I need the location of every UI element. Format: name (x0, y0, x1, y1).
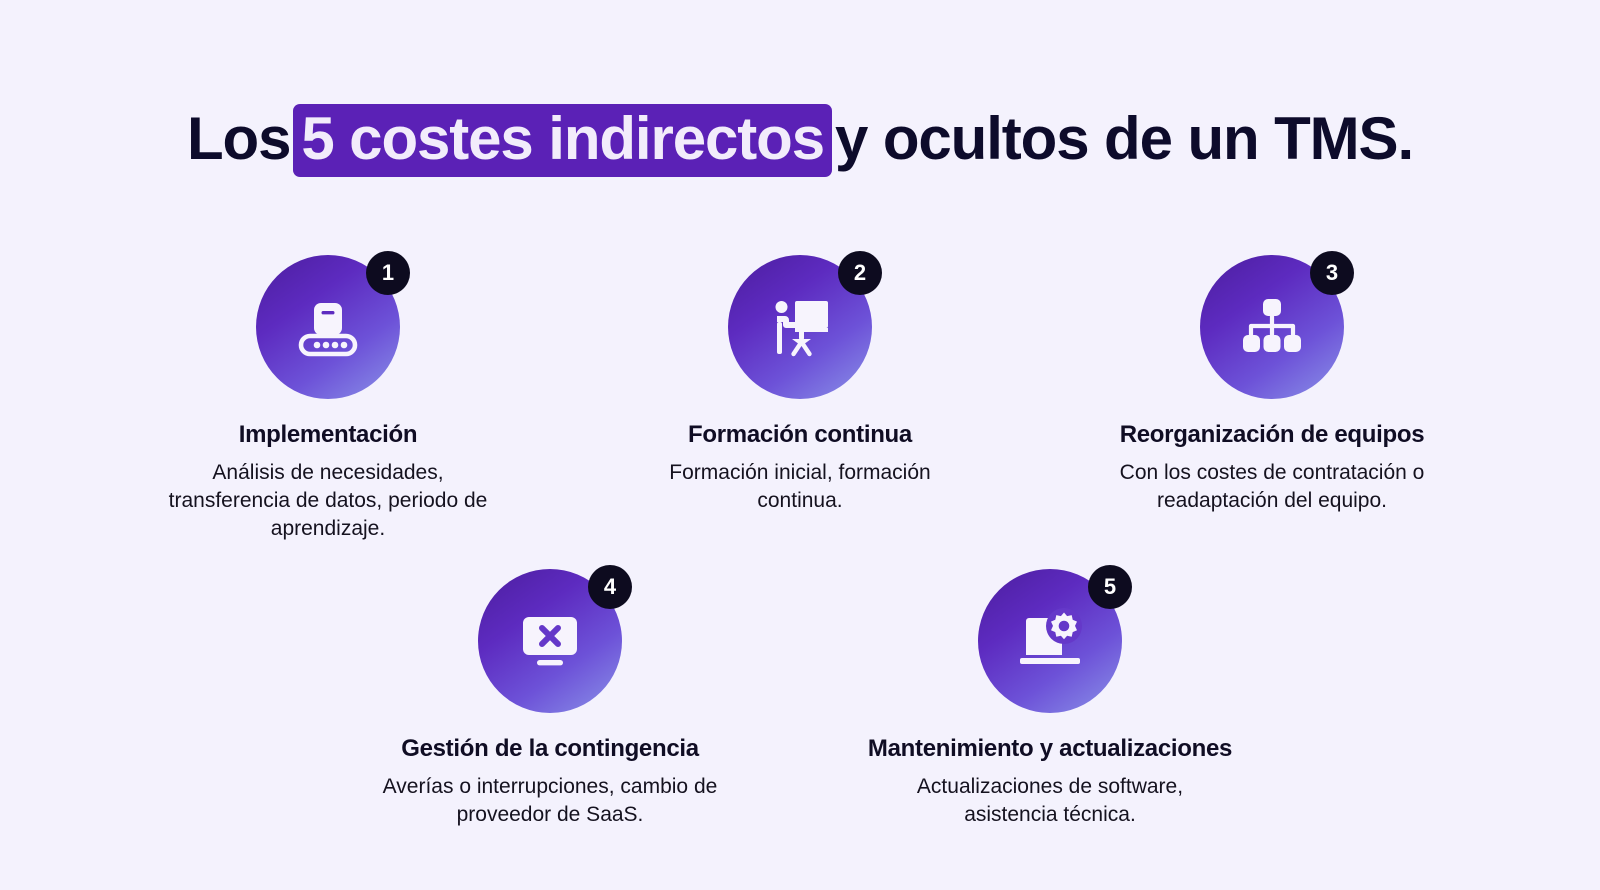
icon-bubble-2: 2 (728, 255, 872, 399)
card-description-5: Actualizaciones de software, asistencia … (870, 773, 1230, 829)
training-presentation-icon (765, 292, 835, 362)
org-chart-icon (1238, 293, 1306, 361)
card-description-3: Con los costes de contratación o readapt… (1102, 459, 1442, 515)
card-description-2: Formación inicial, formación continua. (630, 459, 970, 515)
icon-bubble-4: 4 (478, 569, 622, 713)
card-title-4: Gestión de la contingencia (401, 735, 699, 764)
card-title-5: Mantenimiento y actualizaciones (868, 735, 1232, 764)
card-number-badge-5: 5 (1088, 565, 1132, 609)
cost-card-2: 2 Formación continua Formación inicial, … (624, 255, 976, 515)
cards-row-bottom: 4 Gestión de la contingencia Averías o i… (0, 569, 1600, 829)
monitor-error-icon (515, 606, 585, 676)
card-title-3: Reorganización de equipos (1120, 421, 1425, 450)
card-number-badge-2: 2 (838, 251, 882, 295)
card-title-2: Formación continua (688, 421, 912, 450)
icon-bubble-5: 5 (978, 569, 1122, 713)
cost-card-5: 5 Mantenimiento y actualizaciones Actual… (860, 569, 1240, 829)
cost-card-3: 3 Reorganización de equipos Con los cost… (1096, 255, 1448, 515)
card-number-badge-4: 4 (588, 565, 632, 609)
cost-card-1: 1 Implementación Análisis de necesidades… (152, 255, 504, 543)
title-suffix: y ocultos de un TMS. (835, 105, 1413, 172)
cards-row-top: 1 Implementación Análisis de necesidades… (0, 255, 1600, 543)
laptop-gear-icon (1014, 605, 1086, 677)
page-header: Los5 costes indirectosy ocultos de un TM… (0, 0, 1600, 217)
icon-bubble-1: 1 (256, 255, 400, 399)
card-title-1: Implementación (239, 421, 418, 450)
title-prefix: Los (187, 105, 290, 172)
conveyor-belt-icon (293, 292, 363, 362)
card-description-1: Análisis de necesidades, transferencia d… (158, 459, 498, 543)
icon-bubble-3: 3 (1200, 255, 1344, 399)
cost-card-4: 4 Gestión de la contingencia Averías o i… (360, 569, 740, 829)
cards-grid: 1 Implementación Análisis de necesidades… (0, 255, 1600, 828)
title-highlight: 5 costes indirectos (293, 104, 832, 177)
page-title: Los5 costes indirectosy ocultos de un TM… (187, 104, 1413, 177)
card-number-badge-3: 3 (1310, 251, 1354, 295)
card-description-4: Averías o interrupciones, cambio de prov… (370, 773, 730, 829)
card-number-badge-1: 1 (366, 251, 410, 295)
